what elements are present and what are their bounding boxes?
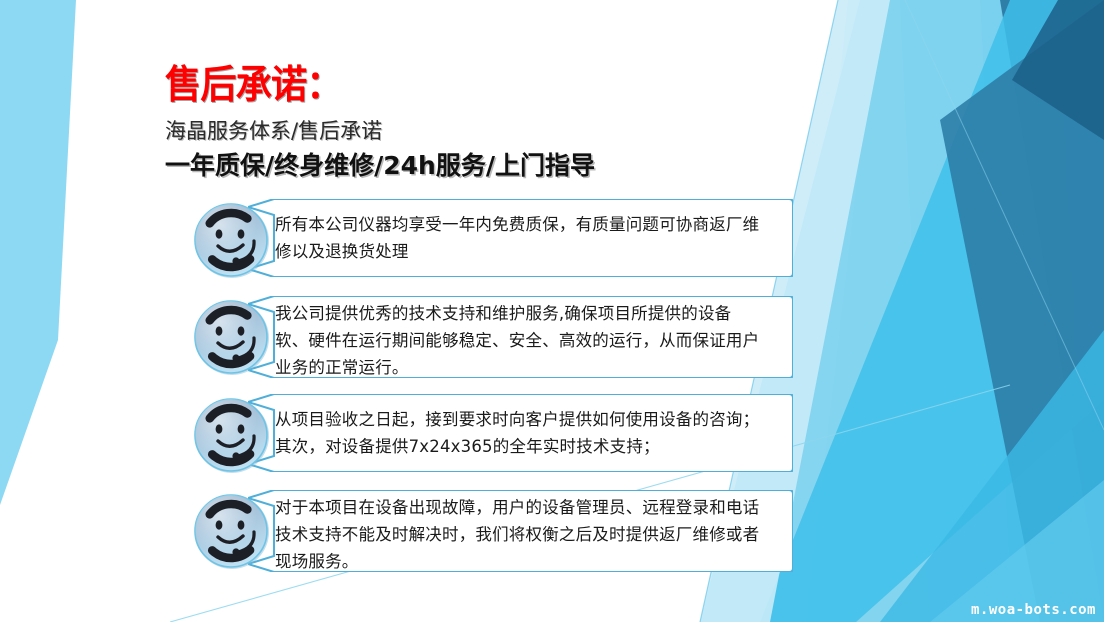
bg-poly-sky — [900, 0, 1104, 622]
page-header: 售后承诺： 海晶服务体系/售后承诺 一年质保/终身维修/24h服务/上门指导 — [165, 63, 785, 182]
slide-canvas: 售后承诺： 海晶服务体系/售后承诺 一年质保/终身维修/24h服务/上门指导 — [0, 0, 1104, 622]
bg-fan-b — [760, 0, 1104, 622]
bg-poly-deep — [1058, 0, 1104, 622]
list-item-text: 我公司提供优秀的技术支持和维护服务,确保项目所提供的设备软、硬件在运行期间能够稳… — [275, 300, 763, 381]
bg-fan-c — [940, 0, 1104, 622]
headset-smiley-icon — [191, 490, 273, 572]
list-item-text: 从项目验收之日起，接到要求时向客户提供如何使用设备的咨询；其次，对设备提供7x2… — [275, 406, 763, 460]
bg-fan-g — [930, 480, 1104, 622]
bg-poly-lightblue — [806, 0, 1104, 622]
list-item-text: 对于本项目在设备出现故障，用户的设备管理员、远程登录和电话技术支持不能及时解决时… — [275, 494, 763, 575]
bg-fan-d — [1012, 0, 1104, 140]
bg-poly-steel — [1000, 0, 1104, 622]
list-item[interactable]: 所有本公司仪器均享受一年内免费质保，有质量问题可协商返厂维修以及退换货处理 — [191, 199, 793, 277]
list-item[interactable]: 从项目验收之日起，接到要求时向客户提供如何使用设备的咨询；其次，对设备提供7x2… — [191, 394, 793, 472]
headset-smiley-icon — [191, 199, 273, 281]
subheading: 一年质保/终身维修/24h服务/上门指导 — [165, 150, 785, 182]
bg-poly-cyan — [980, 0, 1104, 622]
bg-fan-f — [880, 330, 1104, 622]
left-wedge-shape — [0, 0, 76, 505]
headset-smiley-icon — [191, 394, 273, 476]
watermark: m.woa-bots.com — [971, 602, 1096, 618]
hairline-cross — [905, 0, 1104, 430]
bg-poly-pale — [782, 0, 1104, 622]
list-item[interactable]: 我公司提供优秀的技术支持和维护服务,确保项目所提供的设备软、硬件在运行期间能够稳… — [191, 296, 793, 378]
list-item[interactable]: 对于本项目在设备出现故障，用户的设备管理员、远程登录和电话技术支持不能及时解决时… — [191, 490, 793, 572]
page-title: 售后承诺： — [165, 63, 742, 109]
bg-poly-pale-far — [760, 0, 1104, 622]
list-item-text: 所有本公司仪器均享受一年内免费质保，有质量问题可协商返厂维修以及退换货处理 — [275, 211, 763, 265]
breadcrumb: 海晶服务体系/售后承诺 — [165, 118, 785, 144]
headset-smiley-icon — [191, 296, 273, 378]
